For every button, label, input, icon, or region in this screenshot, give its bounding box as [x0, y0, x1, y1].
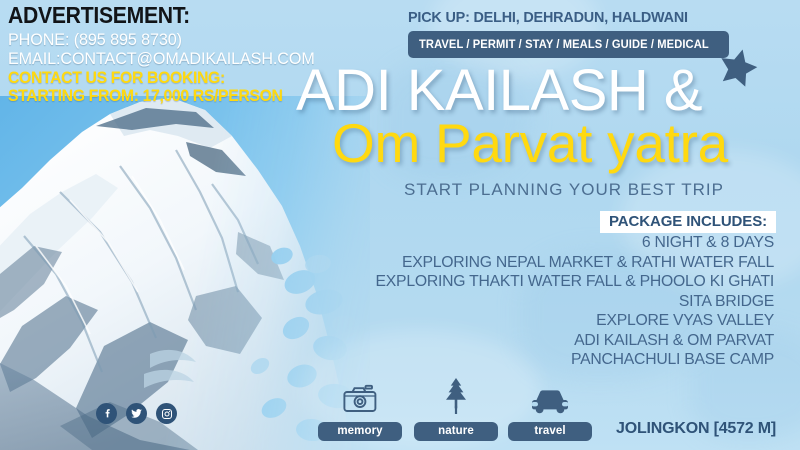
email-line: EMAIL:CONTACT@OMADIKAILASH.COM	[8, 50, 322, 67]
list-item: EXPLORE VYAS VALLEY	[282, 311, 775, 331]
advertisement-poster: ADVERTISEMENT: PHONE: (895 895 8730) EMA…	[0, 0, 800, 450]
camera-icon	[343, 378, 377, 414]
feature-label-travel: travel	[508, 422, 592, 441]
list-item: PANCHACHULI BASE CAMP	[282, 350, 775, 370]
pine-tree-icon	[441, 378, 471, 414]
feature-label-nature: nature	[414, 422, 498, 441]
booking-cta-line: CONTACT US FOR BOOKING:	[8, 69, 315, 86]
twitter-icon[interactable]	[126, 403, 147, 424]
price-line: STARTING FROM: 17,000 RS/PERSON	[8, 87, 315, 104]
list-item: EXPLORING NEPAL MARKET & RATHI WATER FAL…	[282, 253, 775, 273]
location-label: JOLINGKON [4572 M]	[616, 420, 776, 438]
instagram-icon[interactable]	[156, 403, 177, 424]
feature-badges: memory nature travel	[318, 378, 588, 448]
package-includes-list: 6 NIGHT & 8 DAYS EXPLORING NEPAL MARKET …	[274, 233, 774, 370]
social-links	[96, 403, 177, 424]
tagline: START PLANNING YOUR BEST TRIP	[404, 180, 724, 200]
phone-line: PHONE: (895 895 8730)	[8, 31, 322, 48]
advertisement-heading: ADVERTISEMENT:	[8, 4, 312, 27]
page-subtitle: Om Parvat yatra	[332, 116, 800, 171]
list-item: SITA BRIDGE	[282, 292, 775, 312]
feature-nature[interactable]: nature	[414, 378, 498, 441]
package-includes-label: PACKAGE INCLUDES:	[600, 211, 776, 233]
services-badge-label: TRAVEL / PERMIT / STAY / MEALS / GUIDE /…	[419, 39, 709, 51]
services-badge: TRAVEL / PERMIT / STAY / MEALS / GUIDE /…	[408, 31, 729, 58]
list-item: EXPLORING THAKTI WATER FALL & PHOOLO KI …	[282, 272, 775, 292]
feature-memory[interactable]: memory	[318, 378, 402, 441]
facebook-icon[interactable]	[96, 403, 117, 424]
pickup-locations: PICK UP: DELHI, DEHRADUN, HALDWANI	[408, 9, 688, 26]
feature-label-memory: memory	[318, 422, 402, 441]
car-icon	[531, 378, 569, 414]
advertisement-contact-block: ADVERTISEMENT: PHONE: (895 895 8730) EMA…	[8, 4, 338, 105]
list-item: 6 NIGHT & 8 DAYS	[282, 233, 775, 253]
list-item: ADI KAILASH & OM PARVAT	[282, 331, 775, 351]
feature-travel[interactable]: travel	[508, 378, 592, 441]
